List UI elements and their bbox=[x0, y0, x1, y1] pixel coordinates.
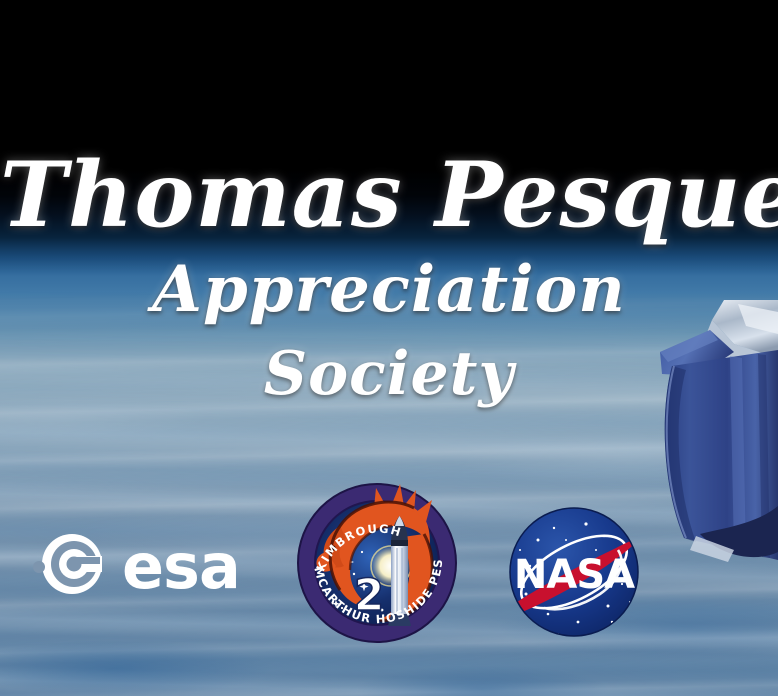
esa-wordmark: esa bbox=[122, 530, 240, 603]
page-title: Thomas Pesquet bbox=[0, 150, 778, 240]
crew-dragon-spacecraft bbox=[638, 300, 778, 560]
subtitle-society: Society bbox=[0, 344, 778, 404]
poster-canvas: Thomas Pesquet Appreciation Society esa bbox=[0, 0, 778, 696]
subtitle-appreciation: Appreciation bbox=[0, 258, 778, 322]
spacex-crew-2-mission-patch: 2 KIMBROUGH MCARTHUR HOSHIDE PESQUET bbox=[296, 482, 458, 644]
esa-logo: esa bbox=[22, 522, 244, 606]
esa-emblem-icon bbox=[25, 526, 102, 602]
nasa-meatball-logo: NASA bbox=[508, 506, 640, 638]
